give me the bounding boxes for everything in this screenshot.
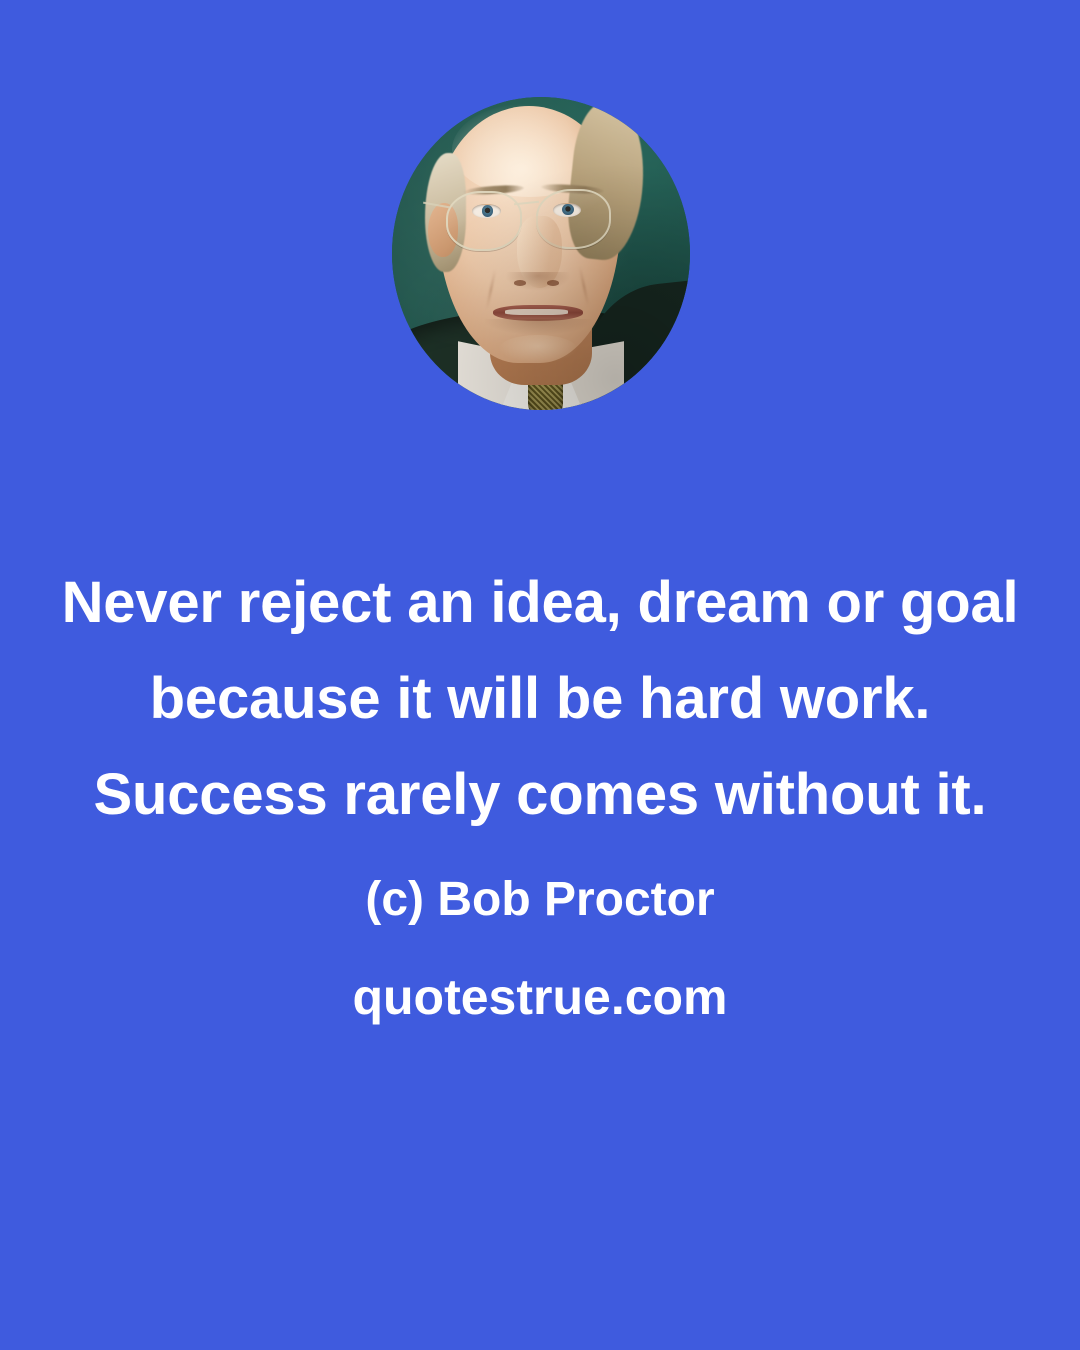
chin-highlight — [499, 335, 576, 363]
teeth — [505, 309, 568, 315]
quote-card: Never reject an idea, dream or goal beca… — [0, 0, 1080, 1350]
lens-left — [446, 191, 522, 251]
source-website: quotestrue.com — [60, 968, 1020, 1026]
nostril-right — [547, 280, 559, 286]
author-portrait — [392, 97, 690, 410]
lower-lip-shadow — [484, 319, 591, 335]
portrait-circle-mask — [392, 97, 690, 410]
quote-attribution: (c) Bob Proctor — [60, 872, 1020, 927]
nostril-left — [514, 280, 526, 286]
quote-text: Never reject an idea, dream or goal beca… — [60, 555, 1020, 843]
